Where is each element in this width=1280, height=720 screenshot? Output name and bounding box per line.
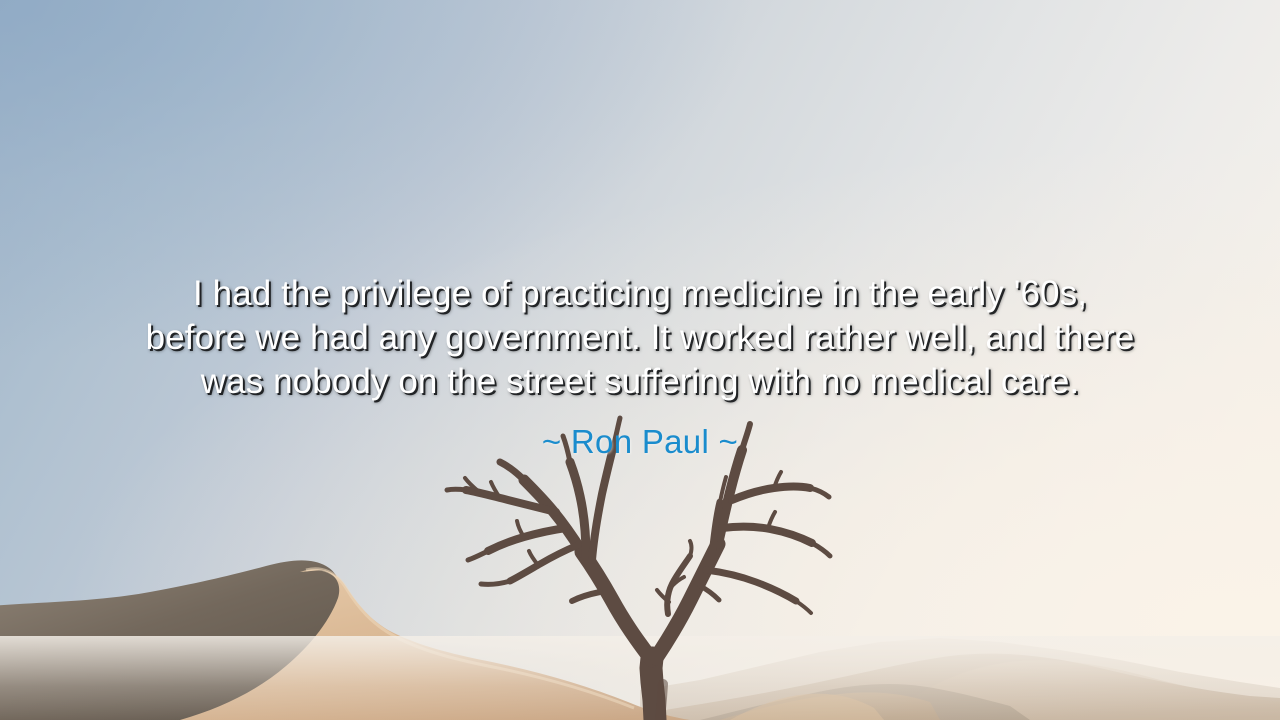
tree-branch-left-fan-2-tip: [468, 551, 488, 560]
tree-twig-right-3: [700, 586, 719, 600]
tree-branch-center-curl-tip: [690, 541, 692, 556]
tree-branch-left-fan-2: [488, 528, 566, 551]
tree-trunk-shade: [660, 684, 663, 720]
quote-image-canvas: I had the privilege of practicing medici…: [0, 0, 1280, 720]
quote-attribution: ~ Ron Paul ~: [0, 422, 1280, 462]
tree-branch-right-fan-3-tip: [796, 601, 811, 613]
tree-branch-center-spire: [592, 448, 613, 560]
quote-block: I had the privilege of practicing medici…: [0, 272, 1280, 462]
quote-line-2: before we had any government. It worked …: [60, 316, 1220, 360]
quote-line-3: was nobody on the street suffering with …: [60, 360, 1220, 404]
tree-branch-right-fan-3: [706, 570, 796, 601]
tree-branch-left-fan-3-tip: [481, 581, 510, 584]
tree-branch-left-fan-3: [510, 545, 578, 581]
tree-branch-left-main: [524, 480, 582, 552]
quote-line-1: I had the privilege of practicing medici…: [60, 272, 1220, 316]
tree-twig-left-3: [517, 521, 524, 537]
tree-limb-left: [582, 552, 652, 660]
tree-branch-right-fan-2-tip: [812, 543, 830, 556]
tree-branch-left-main-tip: [500, 462, 524, 480]
tree-twig-left-4: [529, 551, 538, 565]
tree-branch-right-fan-1: [732, 487, 810, 501]
tree-branch-left-fan-1-tip: [447, 489, 466, 490]
tree-branch-left-stub: [572, 592, 600, 601]
tree-branch-right-fan-1-tip: [810, 488, 829, 497]
